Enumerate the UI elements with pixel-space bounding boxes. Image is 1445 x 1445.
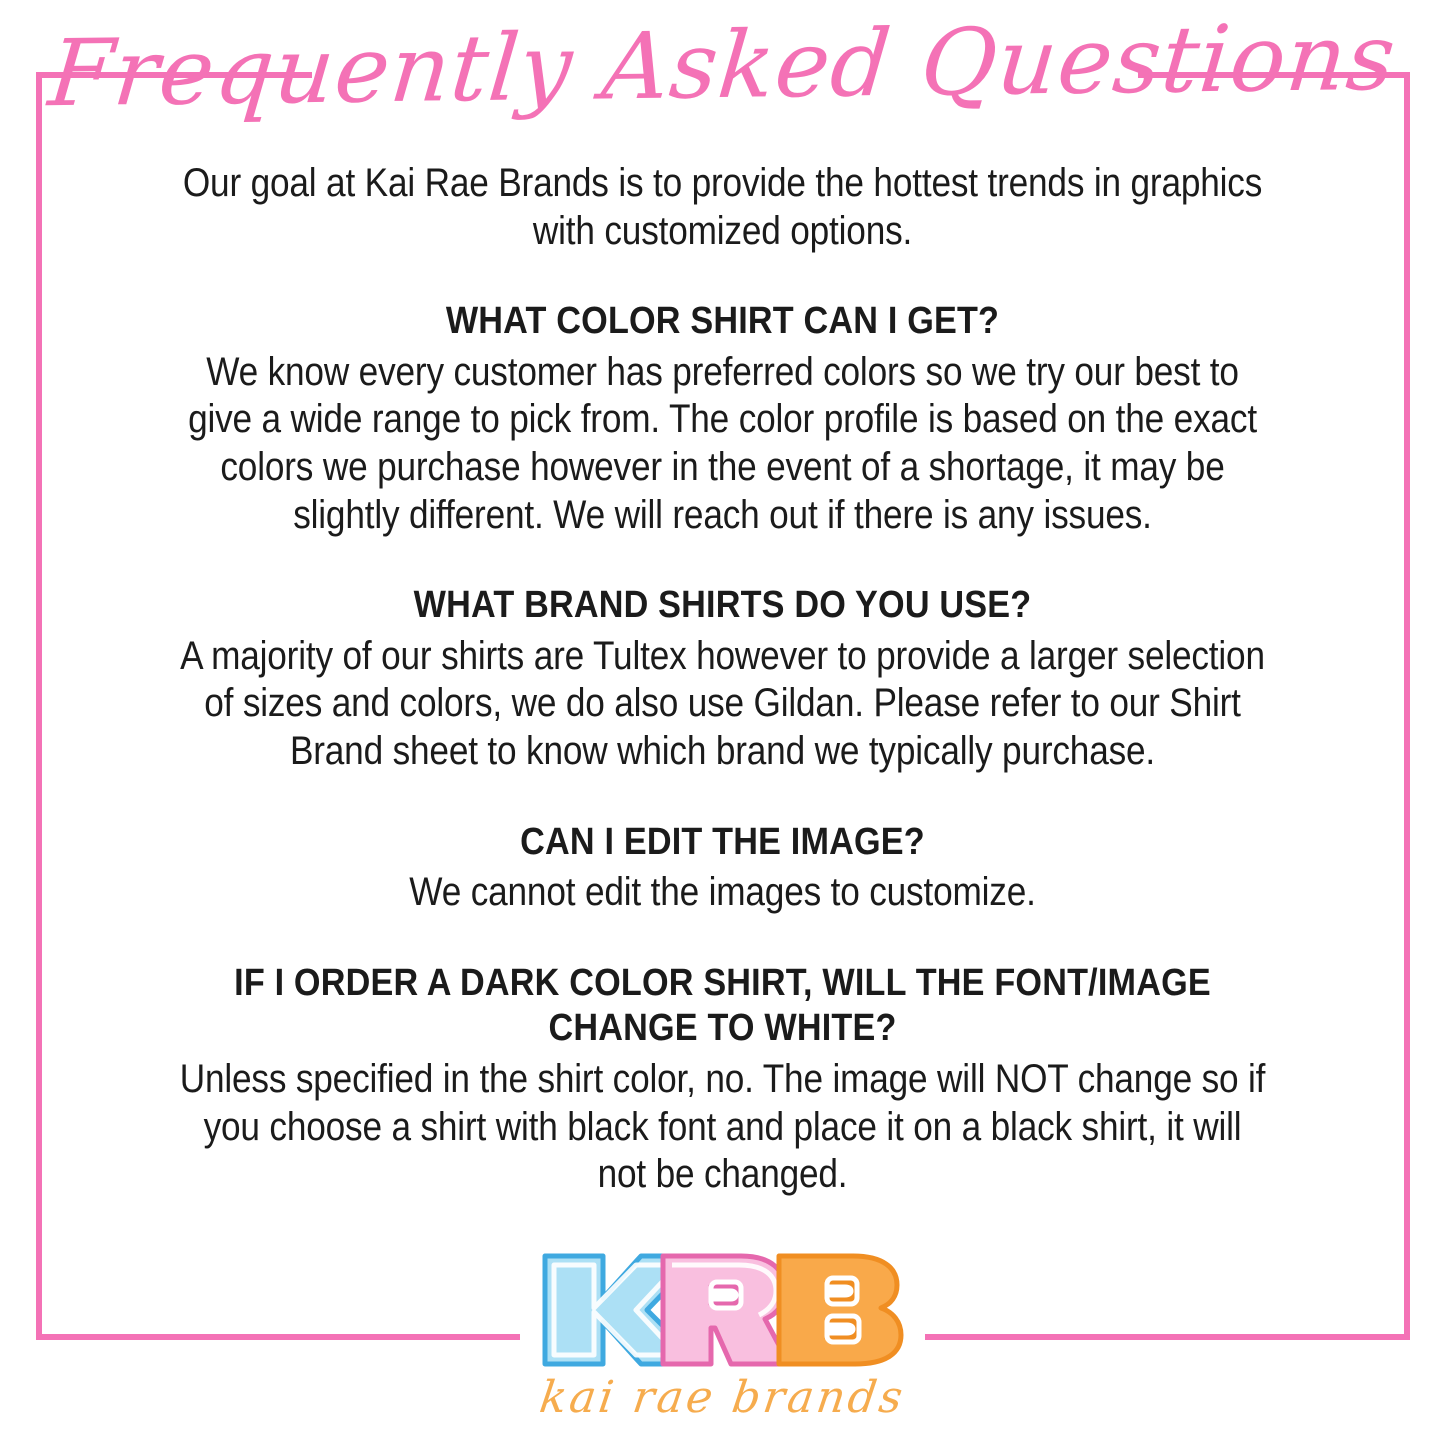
faq-item: WHAT COLOR SHIRT CAN I GET? We know ever… xyxy=(100,299,1345,539)
faq-item: WHAT BRAND SHIRTS DO YOU USE? A majority… xyxy=(100,583,1345,775)
logo-letter-r-icon xyxy=(663,1256,789,1364)
faq-answer: We know every customer has preferred col… xyxy=(175,349,1271,539)
faq-question: IF I ORDER A DARK COLOR SHIRT, WILL THE … xyxy=(162,961,1283,1052)
page-title: Frequently Asked Questions xyxy=(0,5,1445,126)
faq-answer: We cannot edit the images to customize. xyxy=(175,869,1271,917)
faq-answer: A majority of our shirts are Tultex howe… xyxy=(175,633,1271,776)
brand-logo: kai rae brands xyxy=(0,1246,1445,1420)
logo-letter-b-icon xyxy=(779,1256,901,1364)
frame-segment-right xyxy=(1404,72,1410,1340)
faq-page: Frequently Asked Questions Our goal at K… xyxy=(0,0,1445,1445)
faq-content: Our goal at Kai Rae Brands is to provide… xyxy=(100,160,1345,1199)
faq-question: WHAT COLOR SHIRT CAN I GET? xyxy=(162,299,1283,345)
faq-question: CAN I EDIT THE IMAGE? xyxy=(162,820,1283,866)
faq-item: IF I ORDER A DARK COLOR SHIRT, WILL THE … xyxy=(100,961,1345,1199)
faq-answer: Unless specified in the shirt color, no.… xyxy=(175,1056,1271,1199)
faq-item: CAN I EDIT THE IMAGE? We cannot edit the… xyxy=(100,820,1345,917)
intro-paragraph: Our goal at Kai Rae Brands is to provide… xyxy=(175,160,1271,255)
logo-tagline: kai rae brands xyxy=(0,1376,1445,1420)
frame-segment-left xyxy=(36,72,42,1340)
krb-logo-icon xyxy=(537,1246,909,1374)
faq-question: WHAT BRAND SHIRTS DO YOU USE? xyxy=(162,583,1283,629)
